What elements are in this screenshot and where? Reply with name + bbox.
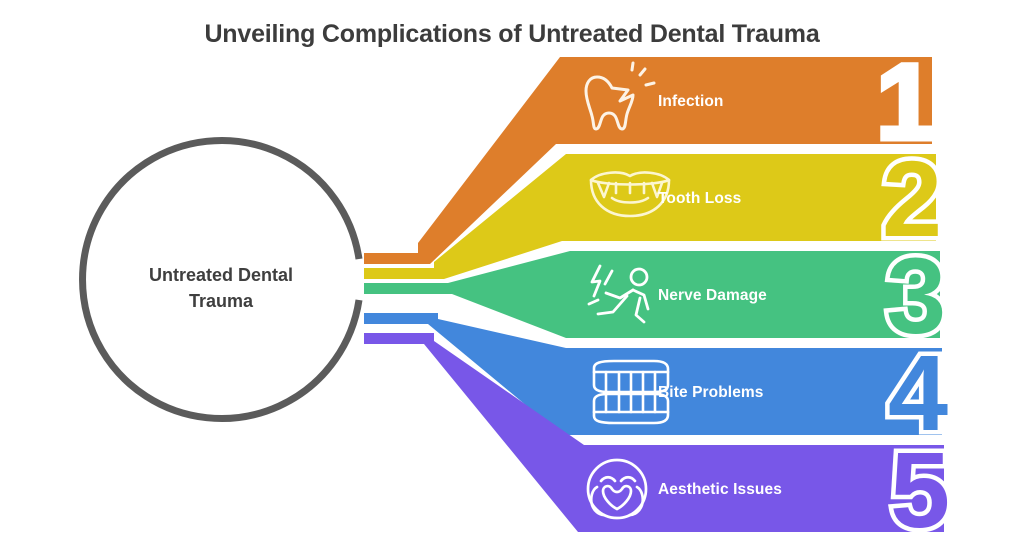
step-number-5: 5 — [890, 429, 950, 538]
hub-label-line1: Untreated Dental — [96, 262, 346, 288]
row-label-2: Tooth Loss — [658, 190, 741, 208]
row-label-1: Infection — [658, 93, 723, 111]
row-label-3: Nerve Damage — [658, 287, 767, 305]
ribbon-group — [364, 57, 944, 532]
hub-label: Untreated Dental Trauma — [96, 262, 346, 314]
row-label-5: Aesthetic Issues — [658, 481, 782, 499]
row-label-4: Bite Problems — [658, 384, 764, 402]
hub-label-line2: Trauma — [96, 288, 346, 314]
infographic-canvas: Unveiling Complications of Untreated Den… — [0, 0, 1024, 538]
